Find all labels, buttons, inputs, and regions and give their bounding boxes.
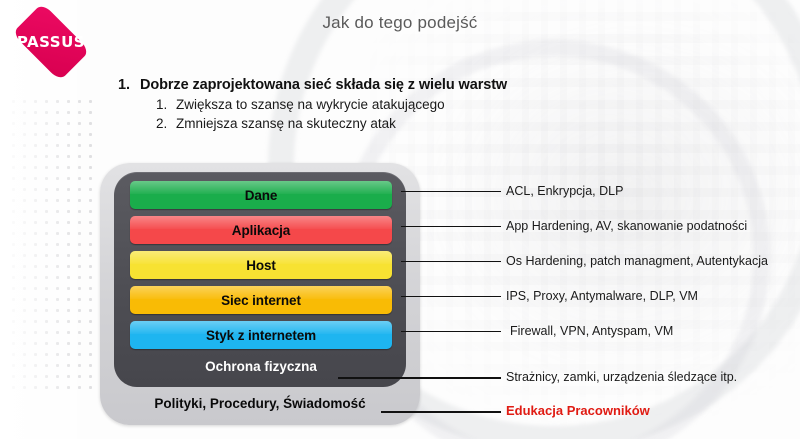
layer-label: Host — [246, 258, 276, 273]
connector-line-siec-internet — [401, 296, 501, 297]
layer-label: Styk z internetem — [206, 328, 316, 343]
connector-line-styk-z-internetem — [401, 331, 501, 332]
layer-label: Aplikacja — [232, 223, 290, 238]
connector-line-host — [401, 261, 501, 262]
annotation-styk-z-internetem: Firewall, VPN, Antyspam, VM — [510, 324, 673, 338]
bullet-level2-text: Zwiększa to szansę na wykrycie atakujące… — [176, 95, 445, 114]
layer-label: Dane — [245, 188, 278, 203]
layer-dane: Dane — [130, 181, 392, 209]
bullet-list: 1. Dobrze zaprojektowana sieć składa się… — [118, 76, 588, 133]
defense-in-depth-diagram: Dane Aplikacja Host Siec internet Styk z… — [100, 163, 420, 425]
bullet-level1: 1. Dobrze zaprojektowana sieć składa się… — [118, 76, 588, 95]
annotation-siec-internet: IPS, Proxy, Antymalware, DLP, VM — [506, 289, 698, 303]
bullet-level1-text: Dobrze zaprojektowana sieć składa się z … — [140, 76, 507, 95]
layer-aplikacja: Aplikacja — [130, 216, 392, 244]
annotation-ochrona-fizyczna: Strażnicy, zamki, urządzenia śledzące it… — [506, 370, 737, 384]
annotation-aplikacja: App Hardening, AV, skanowanie podatności — [506, 219, 747, 233]
bullet-level2-text: Zmniejsza szansę na skuteczny atak — [176, 114, 396, 133]
bullet-level1-number: 1. — [118, 76, 140, 95]
connector-line-aplikacja — [401, 226, 501, 227]
page-title: Jak do tego podejść — [0, 13, 800, 33]
bullet-level2-number: 2. — [156, 114, 176, 133]
annotation-edukacja-pracownikow: Edukacja Pracowników — [506, 404, 650, 418]
dot-grid-decoration — [8, 96, 100, 396]
bullet-level2-item: 1. Zwiększa to szansę na wykrycie atakuj… — [156, 95, 588, 114]
layer-siec-internet: Siec internet — [130, 286, 392, 314]
slide-canvas: PASSUS Jak do tego podejść 1. Dobrze zap… — [0, 0, 800, 439]
annotation-host: Os Hardening, patch managment, Autentyka… — [506, 254, 768, 268]
layer-host: Host — [130, 251, 392, 279]
layer-ochrona-fizyczna: Ochrona fizyczna — [130, 354, 392, 378]
layer-polityki-procedury-swiadomosc: Polityki, Procedury, Świadomość — [114, 391, 406, 415]
connector-line-dane — [401, 191, 501, 192]
annotation-dane: ACL, Enkrypcja, DLP — [506, 184, 623, 198]
connector-line-polityki — [381, 411, 501, 413]
layer-label: Siec internet — [221, 293, 301, 308]
layer-styk-z-internetem: Styk z internetem — [130, 321, 392, 349]
logo-wordmark: PASSUS — [6, 33, 96, 51]
connector-line-ochrona-fizyczna — [338, 377, 501, 379]
bullet-level2-item: 2. Zmniejsza szansę na skuteczny atak — [156, 114, 588, 133]
technical-layers-container: Dane Aplikacja Host Siec internet Styk z… — [114, 172, 406, 387]
bullet-level2-number: 1. — [156, 95, 176, 114]
